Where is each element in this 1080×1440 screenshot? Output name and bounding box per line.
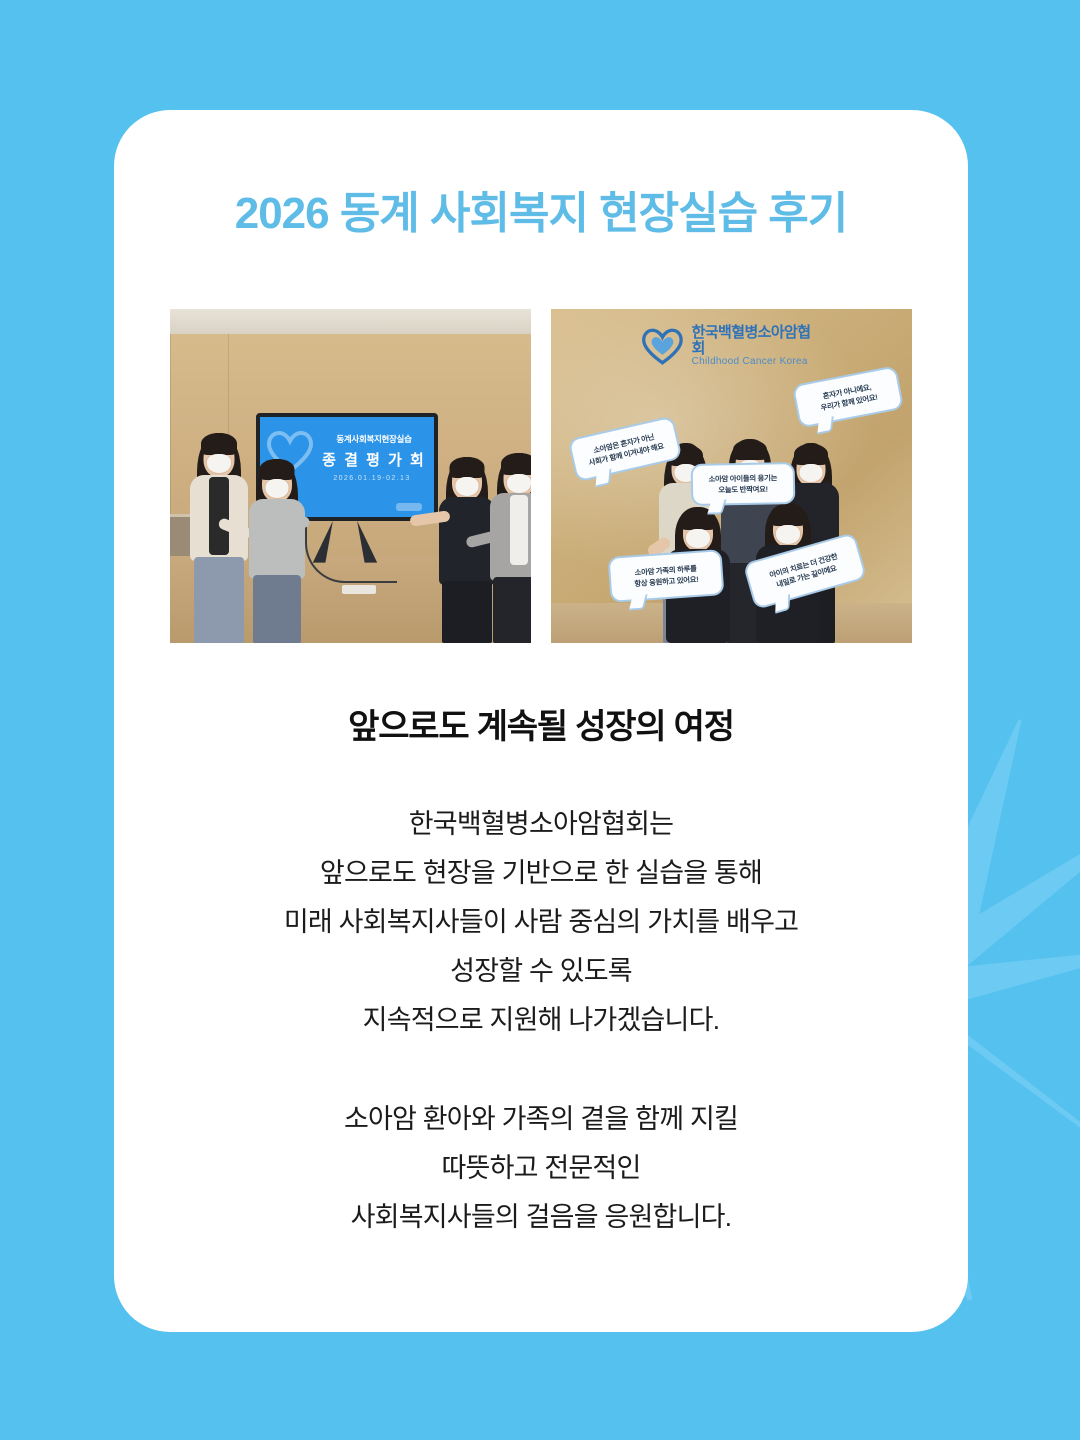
placard-4-line-2: 항상 응원하고 있어요!: [634, 575, 699, 588]
wall-logo-english: Childhood Cancer Korea: [692, 356, 822, 368]
body-p2-line-2: 따뜻하고 전문적인: [441, 1153, 640, 1183]
body-paragraph-2: 소아암 환아와 가족의 곁을 함께 지킬 따뜻하고 전문적인 사회복지사들의 걸…: [170, 1095, 912, 1242]
photo-gallery: 동계사회복지현장실습 종 결 평 가 회 2026.01.19-02.13: [170, 309, 912, 643]
content-card: 2026 동계 사회복지 현장실습 후기 동계사회복지현장실습 종: [114, 110, 968, 1332]
body-p1-line-4: 성장할 수 있도록: [450, 956, 632, 986]
screen-corner-logo: [396, 503, 422, 511]
double-heart-logo-icon: [641, 328, 682, 366]
body-p1-line-1: 한국백혈병소아암협회는: [409, 809, 673, 839]
power-cable: [305, 523, 397, 583]
wall-logo: 한국백혈병소아암협회 Childhood Cancer Korea: [641, 325, 822, 369]
placard-4: 소아암 가족의 하루를 항상 응원하고 있어요!: [608, 549, 725, 603]
body-p1-line-2: 앞으로도 현장을 기반으로 한 실습을 통해: [320, 858, 762, 888]
power-strip: [342, 585, 376, 594]
photo1-person-2: [242, 437, 312, 643]
placard-2-line-1: 소아암 아이들의 용기는: [709, 473, 778, 483]
closing-evaluation-meeting-photo: 동계사회복지현장실습 종 결 평 가 회 2026.01.19-02.13: [170, 309, 531, 643]
page-title: 2026 동계 사회복지 현장실습 후기: [170, 188, 912, 241]
placard-2: 소아암 아이들의 용기는 오늘도 반짝여요!: [691, 462, 796, 506]
body-p2-line-1: 소아암 환아와 가족의 곁을 함께 지킬: [344, 1104, 738, 1134]
screen-line-3: 2026.01.19-02.13: [316, 475, 428, 482]
screen-line-1: 동계사회복지현장실습: [320, 433, 428, 445]
placard-2-line-2: 오늘도 반짝여요!: [718, 484, 768, 494]
photo1-person-4: [484, 429, 531, 643]
body-paragraph-1: 한국백혈병소아암협회는 앞으로도 현장을 기반으로 한 실습을 통해 미래 사회…: [170, 800, 912, 1046]
section-subheading: 앞으로도 계속될 성장의 여정: [170, 699, 912, 748]
wall-logo-korean: 한국백혈병소아암협회: [692, 325, 822, 357]
screen-line-2: 종 결 평 가 회: [320, 449, 428, 470]
body-p1-line-5: 지속적으로 지원해 나가겠습니다.: [363, 1005, 720, 1035]
body-p1-line-3: 미래 사회복지사들이 사람 중심의 가치를 배우고: [284, 907, 798, 937]
body-text: 한국백혈병소아암협회는 앞으로도 현장을 기반으로 한 실습을 통해 미래 사회…: [170, 800, 912, 1242]
body-p2-line-3: 사회복지사들의 걸음을 응원합니다.: [351, 1202, 732, 1232]
placard-group-photo: 한국백혈병소아암협회 Childhood Cancer Korea: [551, 309, 912, 643]
